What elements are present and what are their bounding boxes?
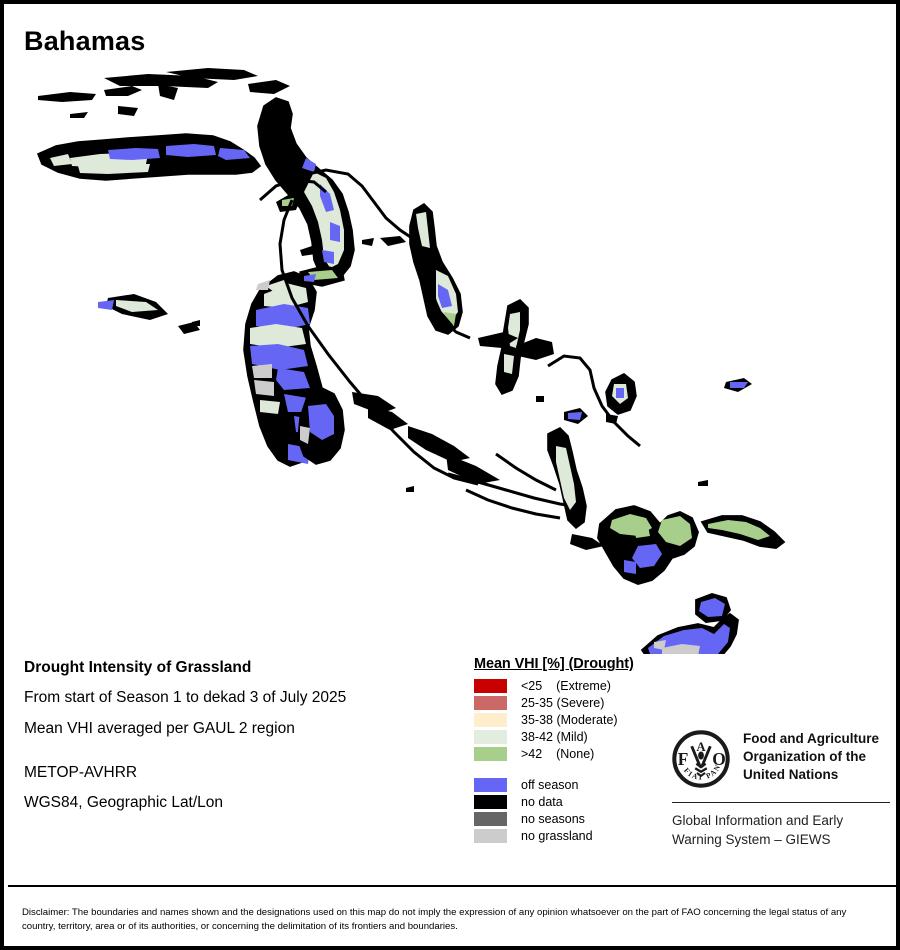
page-title: Bahamas (24, 26, 145, 57)
region-speck-c (616, 544, 624, 548)
map-poster: Bahamas (0, 0, 900, 950)
legend-label-no-data: no data (521, 795, 563, 809)
legend-item-extreme: <25 (Extreme) (474, 677, 689, 694)
fao-letter-f: F (678, 749, 689, 769)
legend-label-no-grassland: no grassland (521, 829, 593, 843)
fao-org-line3: United Nations (743, 766, 879, 784)
legend-item-no-data: no data (474, 793, 689, 810)
info-heading: Drought Intensity of Grassland (24, 659, 454, 676)
map-info-block: Drought Intensity of Grassland From star… (24, 659, 454, 825)
info-spacer (24, 750, 454, 764)
fao-organization-name: Food and Agriculture Organization of the… (743, 730, 879, 785)
legend-item-severe: 25-35 (Severe) (474, 694, 689, 711)
fao-branding: F A O FIAT PANIS Food and Agriculture Or… (672, 730, 892, 849)
legend-label-extreme: <25 (Extreme) (521, 679, 611, 693)
giews-line1: Global Information and Early (672, 812, 892, 831)
giews-system-name: Global Information and Early Warning Sys… (672, 812, 892, 849)
map-legend: Mean VHI [%] (Drought) <25 (Extreme) 25-… (474, 656, 689, 844)
legend-item-no-seasons: no seasons (474, 810, 689, 827)
disclaimer-divider (8, 885, 900, 887)
legend-label-none: >42 (None) (521, 747, 594, 761)
legend-spacer (474, 762, 689, 776)
info-period: From start of Season 1 to dekad 3 of Jul… (24, 689, 454, 706)
legend-item-off-season: off season (474, 776, 689, 793)
info-statistic: Mean VHI averaged per GAUL 2 region (24, 720, 454, 737)
legend-swatch-no-seasons (474, 812, 507, 826)
legend-label-severe: 25-35 (Severe) (521, 696, 604, 710)
legend-swatch-severe (474, 696, 507, 710)
fao-org-line2: Organization of the (743, 748, 879, 766)
info-sensor: METOP-AVHRR (24, 764, 454, 781)
legend-swatch-off-season (474, 778, 507, 792)
fao-logo-icon: F A O FIAT PANIS (672, 730, 730, 793)
legend-item-no-grassland: no grassland (474, 827, 689, 844)
legend-title: Mean VHI [%] (Drought) (474, 656, 689, 672)
region-speck-b (536, 396, 544, 402)
giews-line2: Warning System – GIEWS (672, 831, 892, 850)
legend-swatch-no-data (474, 795, 507, 809)
legend-item-mild: 38-42 (Mild) (474, 728, 689, 745)
region-rum-cay-fill (568, 412, 582, 420)
legend-label-moderate: 35-38 (Moderate) (521, 713, 618, 727)
bahamas-map (8, 54, 896, 654)
legend-swatch-mild (474, 730, 507, 744)
fao-org-line1: Food and Agriculture (743, 730, 879, 748)
legend-swatch-no-grassland (474, 829, 507, 843)
legend-swatch-moderate (474, 713, 507, 727)
legend-swatch-none (474, 747, 507, 761)
disclaimer-text: Disclaimer: The boundaries and names sho… (22, 906, 882, 934)
fao-divider (672, 802, 890, 803)
legend-label-no-seasons: no seasons (521, 812, 585, 826)
legend-item-moderate: 35-38 (Moderate) (474, 711, 689, 728)
legend-label-mild: 38-42 (Mild) (521, 730, 588, 744)
legend-swatch-extreme (474, 679, 507, 693)
legend-item-none: >42 (None) (474, 745, 689, 762)
info-projection: WGS84, Geographic Lat/Lon (24, 794, 454, 811)
legend-label-off-season: off season (521, 778, 578, 792)
